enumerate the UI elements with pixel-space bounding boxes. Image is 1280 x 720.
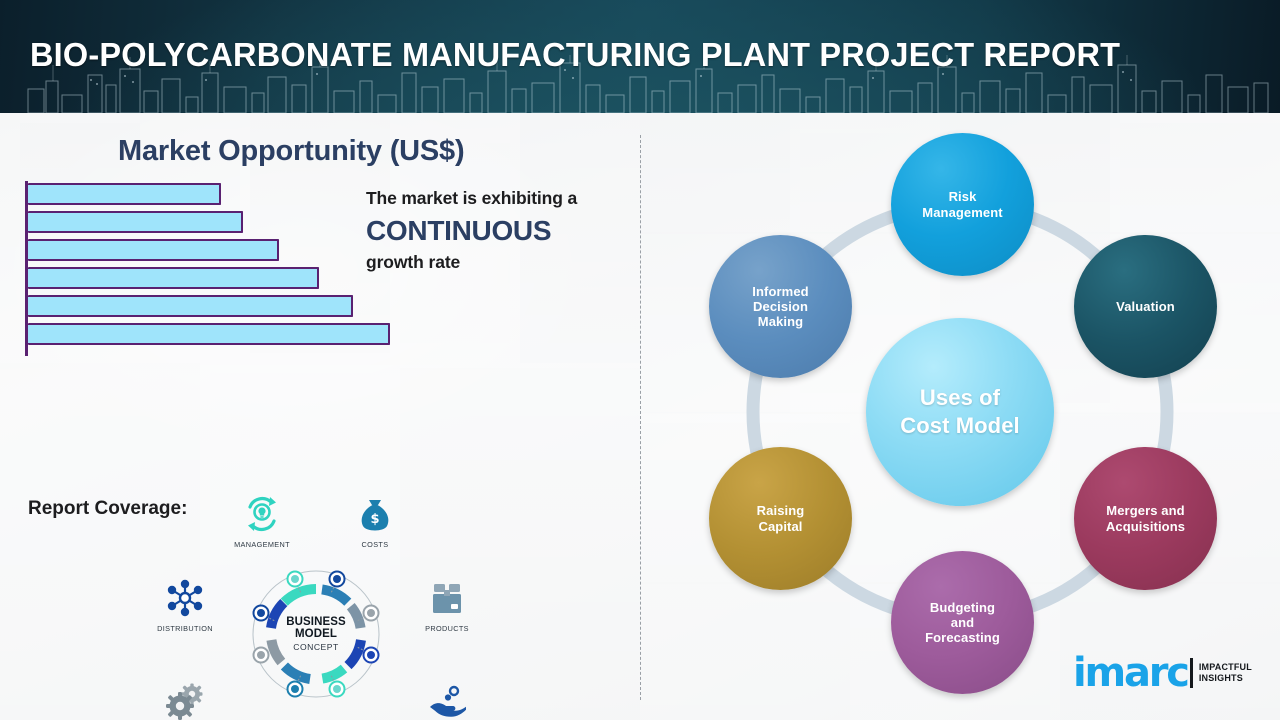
node-center-line-2: Cost Model [900, 412, 1020, 440]
table-row [28, 323, 390, 345]
coverage-label-costs: COSTS [327, 540, 423, 549]
bar-2 [28, 239, 279, 261]
table-row [28, 295, 353, 317]
node-center-line-1: Uses of [900, 384, 1020, 412]
node-informed-line-2: Decision [752, 299, 808, 314]
imarc-tagline: IMPACTFUL INSIGHTS [1199, 662, 1252, 685]
market-growth-statement: The market is exhibiting a CONTINUOUS gr… [366, 188, 641, 273]
node-budgeting-and-forecasting[interactable]: Budgeting and Forecasting [891, 551, 1034, 694]
money-bag-icon: $ [327, 491, 423, 537]
gears-icon [137, 679, 233, 720]
node-mergers-line-1: Mergers and [1106, 503, 1185, 518]
market-statement-line-1: The market is exhibiting a [366, 188, 641, 209]
node-valuation[interactable]: Valuation [1074, 235, 1217, 378]
hand-coin-icon [399, 679, 495, 720]
node-capital-line-1: Raising [757, 503, 805, 518]
node-center-uses-of-cost-model: Uses of Cost Model [866, 318, 1054, 506]
slide-body: Market Opportunity (US$) The market is e… [0, 113, 1280, 720]
coverage-item-costs: $ COSTS [327, 491, 423, 549]
logo-divider [1190, 658, 1193, 688]
market-opportunity-title: Market Opportunity (US$) [118, 135, 464, 168]
coverage-item-management: MANAGEMENT [214, 491, 310, 549]
node-informed-decision-making[interactable]: Informed Decision Making [709, 235, 852, 378]
imarc-logo[interactable]: imarc IMPACTFUL INSIGHTS [1073, 652, 1252, 694]
coverage-item-products: PRODUCTS [399, 575, 495, 633]
imarc-tagline-line-1: IMPACTFUL [1199, 662, 1252, 673]
node-valuation-line-1: Valuation [1116, 299, 1175, 314]
business-model-diagram: BUSINESS MODEL CONCEPT [245, 563, 387, 705]
bar-4 [28, 295, 353, 317]
table-row [28, 211, 243, 233]
node-raising-capital[interactable]: Raising Capital [709, 447, 852, 590]
node-risk-line-2: Management [922, 205, 1002, 220]
bar-0 [28, 183, 221, 205]
page-title: BIO-POLYCARBONATE MANUFACTURING PLANT PR… [30, 36, 1120, 74]
node-mergers-and-acquisitions[interactable]: Mergers and Acquisitions [1074, 447, 1217, 590]
svg-text:$: $ [370, 512, 379, 527]
coverage-label-management: MANAGEMENT [214, 540, 310, 549]
bar-1 [28, 211, 243, 233]
imarc-tagline-line-2: INSIGHTS [1199, 673, 1252, 684]
table-row [28, 267, 319, 289]
imarc-wordmark: imarc [1073, 653, 1188, 693]
bar-3 [28, 267, 319, 289]
bar-5 [28, 323, 390, 345]
node-budget-line-3: Forecasting [925, 630, 1000, 645]
node-budget-line-1: Budgeting [925, 600, 1000, 615]
node-mergers-line-2: Acquisitions [1106, 519, 1185, 534]
node-capital-line-2: Capital [757, 519, 805, 534]
table-row [28, 183, 221, 205]
node-informed-line-3: Making [752, 314, 808, 329]
coverage-item-revenue: REVENUE [399, 679, 495, 720]
network-nodes-icon [137, 575, 233, 621]
coverage-label-distribution: DISTRIBUTION [137, 624, 233, 633]
page-header: BIO-POLYCARBONATE MANUFACTURING PLANT PR… [0, 0, 1280, 113]
coverage-label-products: PRODUCTS [399, 624, 495, 633]
coverage-item-distribution: DISTRIBUTION [137, 575, 233, 633]
node-risk-management[interactable]: Risk Management [891, 133, 1034, 276]
recycle-lightbulb-icon [214, 491, 310, 537]
table-row [28, 239, 279, 261]
node-informed-line-1: Informed [752, 284, 808, 299]
market-statement-highlight: CONTINUOUS [366, 215, 641, 247]
node-risk-line-1: Risk [922, 189, 1002, 204]
coverage-item-services: SERVICES [137, 679, 233, 720]
market-statement-line-3: growth rate [366, 252, 641, 273]
market-opportunity-bar-chart [25, 181, 405, 356]
package-box-icon [399, 575, 495, 621]
node-budget-line-2: and [925, 615, 1000, 630]
report-coverage-label: Report Coverage: [28, 498, 187, 520]
uses-of-cost-model-diagram: Uses of Cost Model Risk Management Valua… [640, 113, 1280, 720]
